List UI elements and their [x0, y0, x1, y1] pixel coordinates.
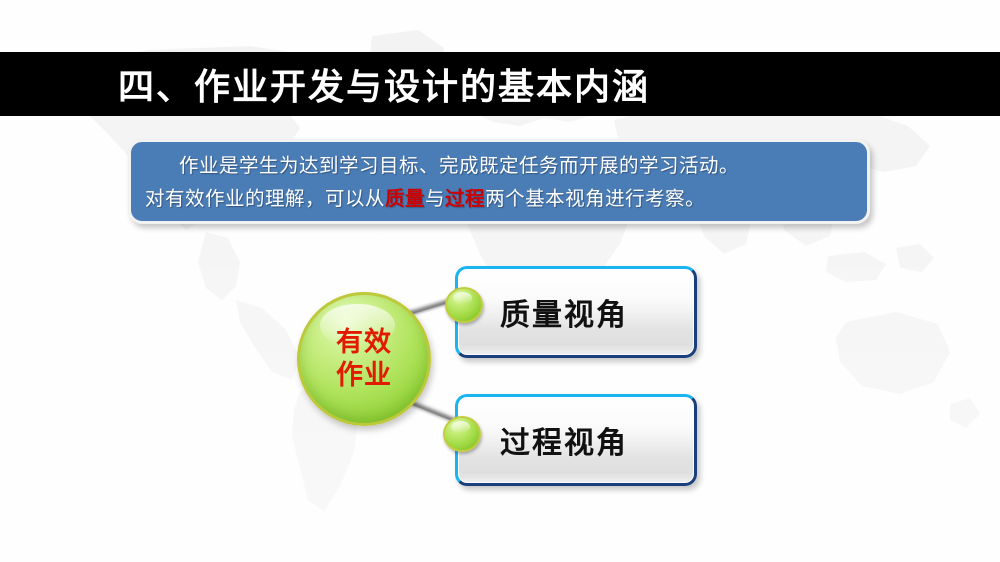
statement-emphasis-process: 过程: [445, 187, 485, 210]
statement-line-2: 对有效作业的理解，可以从质量与过程两个基本视角进行考察。: [145, 182, 853, 215]
title-banner: 四、作业开发与设计的基本内涵: [0, 52, 1000, 116]
statement-line-1: 作业是学生为达到学习目标、完成既定任务而开展的学习活动。: [145, 149, 853, 182]
statement-line-2-part2: 两个基本视角进行考察。: [485, 187, 705, 210]
branch-card-process-label: 过程视角: [500, 418, 628, 462]
branch-card-process[interactable]: 过程视角: [455, 394, 697, 486]
slide-canvas: 四、作业开发与设计的基本内涵 作业是学生为达到学习目标、完成既定任务而开展的学习…: [0, 0, 1000, 562]
hub-node-effective-homework[interactable]: 有效 作业: [297, 292, 431, 426]
hub-label-line-1: 有效: [336, 326, 392, 359]
statement-emphasis-quality: 质量: [385, 187, 425, 210]
statement-line-2-part1: 对有效作业的理解，可以从: [145, 187, 385, 210]
statement-line-2-mid: 与: [425, 187, 445, 210]
statement-box: 作业是学生为达到学习目标、完成既定任务而开展的学习活动。 对有效作业的理解，可以…: [128, 139, 870, 224]
hub-label-line-2: 作业: [336, 359, 392, 392]
branch-card-quality-label: 质量视角: [500, 290, 628, 334]
statement-line-1-text: 作业是学生为达到学习目标、完成既定任务而开展的学习活动。: [179, 154, 739, 177]
page-title: 四、作业开发与设计的基本内涵: [118, 58, 650, 110]
branch-card-quality[interactable]: 质量视角: [455, 266, 697, 358]
